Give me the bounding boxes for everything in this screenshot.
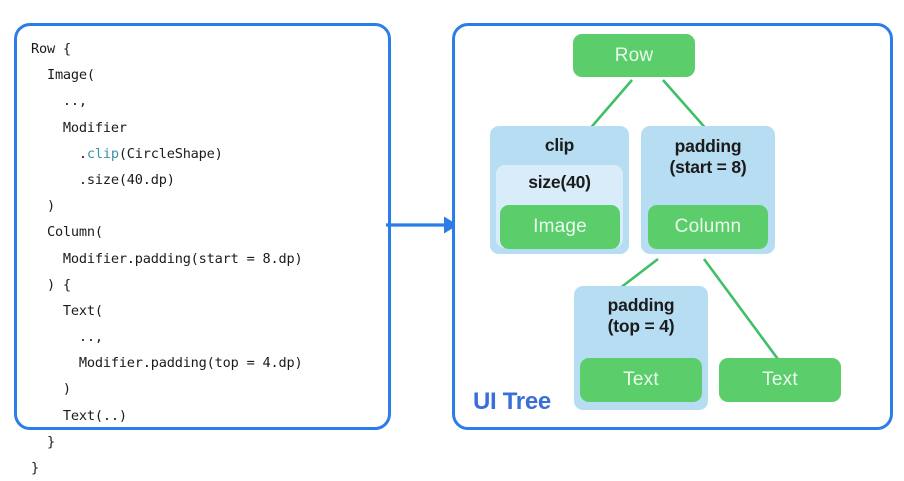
node-text-first[interactable]: Text	[580, 358, 702, 402]
code-token: Modifier	[31, 120, 127, 136]
code-token: Text(..)	[31, 408, 127, 424]
node-column-label: Column	[675, 216, 742, 238]
modifier-clip-label: clip	[490, 135, 629, 155]
code-line: .size(40.dp)	[31, 167, 302, 193]
code-token: .size(40.dp)	[31, 172, 175, 188]
node-row-label: Row	[615, 45, 654, 67]
code-token: Text(	[31, 303, 103, 319]
code-line: ..,	[31, 88, 302, 114]
code-line: Modifier	[31, 115, 302, 141]
code-line: }	[31, 429, 302, 455]
edge-column-to-text	[704, 259, 783, 366]
node-text-second[interactable]: Text	[719, 358, 841, 402]
modifier-padding-start-line2: (start = 8)	[641, 157, 775, 178]
node-column[interactable]: Column	[648, 205, 768, 249]
code-token: Modifier.padding(start = 8.dp)	[31, 251, 302, 267]
code-line: ..,	[31, 324, 302, 350]
code-line: }	[31, 455, 302, 481]
code-token: Modifier.padding(top = 4.dp)	[31, 355, 302, 371]
node-text-second-label: Text	[762, 369, 798, 391]
modifier-padding-top-label: padding (top = 4)	[574, 295, 708, 336]
edge-row-to-clip	[588, 80, 632, 131]
code-line: Row {	[31, 36, 302, 62]
modifier-padding-start-label: padding (start = 8)	[641, 136, 775, 177]
code-line: ) {	[31, 272, 302, 298]
code-token: Column(	[31, 224, 103, 240]
modifier-padding-start-line1: padding	[641, 136, 775, 157]
code-token: .	[31, 146, 87, 162]
code-line: Modifier.padding(top = 4.dp)	[31, 350, 302, 376]
node-text-first-label: Text	[623, 369, 659, 391]
code-line: )	[31, 193, 302, 219]
code-line: Column(	[31, 219, 302, 245]
modifier-padding-top-line2: (top = 4)	[574, 316, 708, 337]
code-token: }	[31, 460, 39, 476]
code-line: Image(	[31, 62, 302, 88]
node-image[interactable]: Image	[500, 205, 620, 249]
modifier-size-label: size(40)	[496, 172, 623, 192]
code-token: Row {	[31, 41, 71, 57]
code-snippet: Row { Image( .., Modifier .clip(CircleSh…	[31, 36, 302, 481]
code-token: }	[31, 434, 55, 450]
code-token: (CircleShape)	[119, 146, 223, 162]
modifier-padding-top-line1: padding	[574, 295, 708, 316]
code-line: Text(..)	[31, 403, 302, 429]
ui-tree-caption: UI Tree	[473, 388, 551, 416]
code-line: )	[31, 376, 302, 402]
transforms-to-arrow	[386, 208, 460, 242]
node-image-label: Image	[533, 216, 587, 238]
code-token: )	[31, 198, 55, 214]
code-line: Modifier.padding(start = 8.dp)	[31, 246, 302, 272]
diagram-canvas: Row { Image( .., Modifier .clip(CircleSh…	[0, 0, 904, 452]
node-row[interactable]: Row	[573, 34, 695, 77]
code-token: ..,	[31, 93, 87, 109]
code-line: Text(	[31, 298, 302, 324]
code-token: )	[31, 381, 71, 397]
code-token: ) {	[31, 277, 71, 293]
edge-row-to-padding-start	[663, 80, 708, 131]
code-token: Image(	[31, 67, 95, 83]
code-panel: Row { Image( .., Modifier .clip(CircleSh…	[14, 23, 391, 430]
code-token-clip: clip	[87, 146, 119, 162]
code-token: ..,	[31, 329, 103, 345]
code-line: .clip(CircleShape)	[31, 141, 302, 167]
